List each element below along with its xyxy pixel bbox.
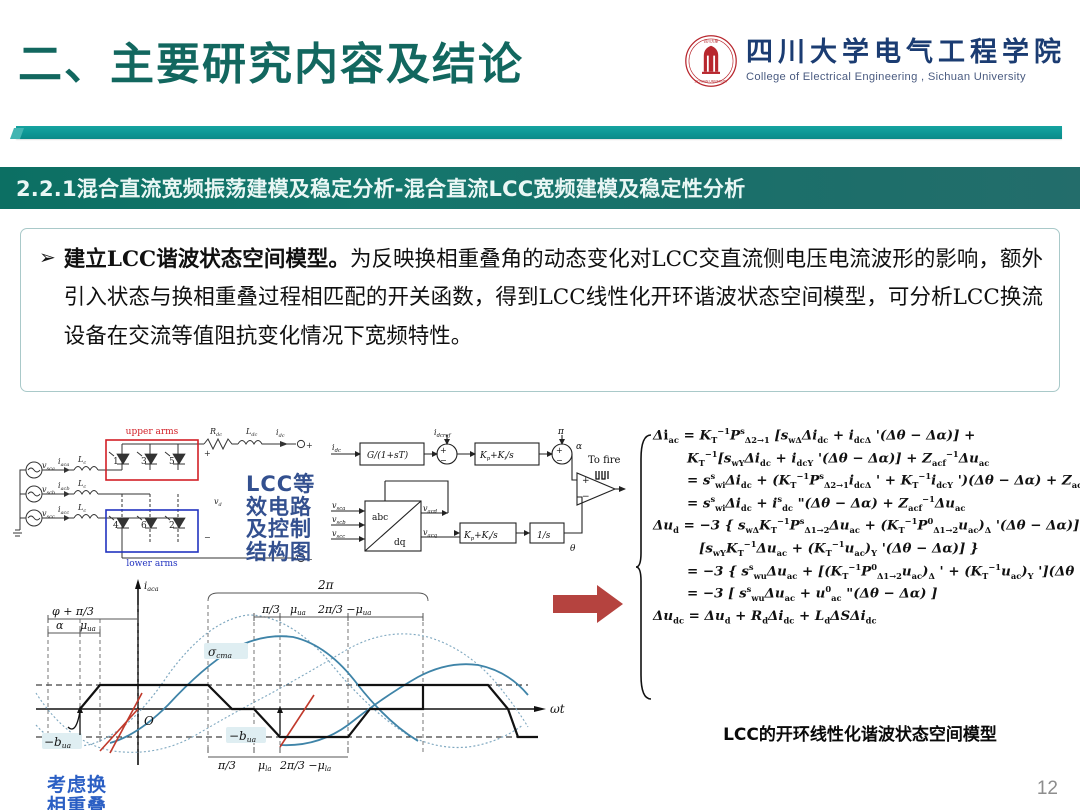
page-title: 二、主要研究内容及结论	[18, 28, 524, 92]
equation-caption: LCC的开环线性化谐波状态空间模型	[653, 720, 1067, 745]
svg-text:π: π	[557, 427, 565, 437]
svg-text:π/3: π/3	[261, 603, 280, 616]
svg-text:Lc: Lc	[77, 455, 86, 466]
svg-text:G/(1+sT): G/(1+sT)	[367, 450, 409, 461]
svg-text:idc: idc	[332, 443, 341, 454]
lcc-current-waveform-diagram: iaca ωt O φ + π/3 α μua 2π π/3 μua 2π/3 …	[18, 575, 630, 775]
svg-text:SICHUAN UNIVERSITY: SICHUAN UNIVERSITY	[695, 80, 728, 84]
svg-text:π/3: π/3	[217, 759, 236, 772]
svg-text:Rdc: Rdc	[209, 427, 222, 438]
svg-text:vd: vd	[214, 497, 222, 508]
svg-text:+: +	[556, 446, 563, 455]
svg-text:−: −	[440, 456, 447, 465]
svg-text:2π/3 −μua: 2π/3 −μua	[317, 603, 371, 617]
circuit-caption: LCC等效电路及控制结构图	[246, 473, 318, 564]
svg-text:φ + π/3: φ + π/3	[52, 605, 94, 618]
upper-arms-label: upper arms	[126, 427, 179, 437]
equation-line-2: KT−1[swYΔidc + idcY '(Δθ − Δα)] + Zacf−1…	[653, 448, 1067, 471]
svg-text:Kp+Ki/s: Kp+Ki/s	[463, 531, 498, 542]
logo-english-name: College of Electrical Engineering , Sich…	[746, 71, 1026, 83]
equation-brace-icon	[635, 433, 655, 701]
equation-line-4: = sswiΔidc + isdc "(Δθ − Δα) + Zacf−1Δua…	[653, 493, 1067, 516]
svg-text:ωt: ωt	[550, 702, 565, 716]
svg-text:μla: μla	[258, 759, 272, 773]
university-logo: 四川大學 SICHUAN UNIVERSITY 四川大学电气工程学院 Colle…	[684, 34, 1066, 88]
svg-text:−: −	[556, 456, 563, 465]
svg-text:θ: θ	[570, 544, 576, 554]
svg-text:3: 3	[141, 457, 147, 467]
equation-line-9: Δudc = Δud + RdΔidc + LdΔSΔidc	[653, 606, 1067, 628]
svg-text:abc: abc	[372, 513, 388, 523]
svg-text:iaca: iaca	[144, 581, 159, 593]
content-paragraph: 建立LCC谐波状态空间模型。为反映换相重叠角的动态变化对LCC交直流侧电压电流波…	[64, 241, 1043, 356]
svg-text:2π/3 −μla: 2π/3 −μla	[279, 759, 331, 773]
equation-line-5: Δud = −3 { swΔKT−1PsΔ1→2Δuac + (KT−1P0Δ1…	[653, 515, 1067, 538]
svg-text:5: 5	[169, 457, 175, 467]
svg-text:iaca: iaca	[58, 457, 69, 468]
page-number: 12	[1037, 778, 1058, 800]
svg-text:−: −	[204, 533, 211, 542]
svg-text:+: +	[582, 476, 590, 486]
waveform-caption: 考虑换相重叠过程的LCC电流变化情况	[40, 775, 114, 810]
equation-panel: Δiac = KT−1PsΔ2→1 [swΔΔidc + idcΔ '(Δθ −…	[635, 425, 1067, 735]
section-header-bar: 2.2.1混合直流宽频振荡建模及稳定分析-混合直流LCC宽频建模及稳定性分析	[0, 167, 1080, 209]
svg-text:vscb: vscb	[332, 515, 346, 526]
lcc-equivalent-circuit-diagram: vsca vscb vscc iaca iacb iacc Lc Lc Lc R…	[18, 418, 328, 588]
svg-text:Lc: Lc	[77, 503, 86, 514]
lcc-control-block-diagram: idc G/(1+sT) idcref Kp+Ki/s π α vsca vsc…	[330, 425, 630, 575]
svg-text:To fire: To fire	[588, 455, 621, 466]
svg-text:vscc: vscc	[332, 529, 345, 540]
svg-text:1/s: 1/s	[537, 531, 551, 541]
equation-line-3: = sswiΔidc + (KT−1PsΔ2→1idcΔ ' + KT−1idc…	[653, 470, 1067, 493]
content-callout-box: ➢ 建立LCC谐波状态空间模型。为反映换相重叠角的动态变化对LCC交直流侧电压电…	[20, 228, 1060, 392]
svg-text:Ldc: Ldc	[245, 427, 258, 438]
svg-text:dq: dq	[394, 538, 406, 548]
section-title: 2.2.1混合直流宽频振荡建模及稳定分析-混合直流LCC宽频建模及稳定性分析	[0, 173, 745, 203]
equation-line-6: [swYKT−1Δuac + (KT−1uac)Y '(Δθ − Δα)] }	[653, 538, 1067, 561]
svg-text:+: +	[440, 446, 447, 455]
equation-line-8: = −3 [ sswuΔuac + u0ac "(Δθ − Δα) ]	[653, 583, 1067, 606]
svg-text:6: 6	[141, 521, 147, 531]
equation-line-7: = −3 { sswuΔuac + [(KT−1P0Δ1→2uac)Δ ' + …	[653, 561, 1067, 584]
slide-root: 二、主要研究内容及结论 四川大學 SICHUAN UNIVERSITY 四川大学…	[0, 0, 1080, 810]
svg-text:4: 4	[113, 521, 119, 531]
svg-text:2π: 2π	[317, 578, 335, 592]
svg-text:+: +	[204, 449, 211, 458]
svg-text:α: α	[576, 442, 582, 452]
svg-text:μua: μua	[290, 603, 306, 617]
equation-lines: Δiac = KT−1PsΔ2→1 [swΔΔidc + idcΔ '(Δθ −…	[653, 425, 1067, 628]
content-bold-lead: 建立LCC谐波状态空间模型。	[64, 247, 350, 272]
right-arrow-icon	[553, 583, 625, 625]
equation-line-1: Δiac = KT−1PsΔ2→1 [swΔΔidc + idcΔ '(Δθ −…	[653, 425, 1067, 448]
svg-text:idcref: idcref	[434, 428, 452, 439]
svg-text:Kp+Ki/s: Kp+Ki/s	[479, 451, 514, 462]
sichuan-university-seal-icon: 四川大學 SICHUAN UNIVERSITY	[684, 34, 738, 88]
svg-text:μua: μua	[80, 619, 96, 633]
svg-text:iacb: iacb	[58, 481, 70, 492]
title-divider	[16, 126, 1062, 139]
svg-text:vsca: vsca	[332, 501, 345, 512]
svg-text:O: O	[144, 714, 154, 728]
lower-arms-label: lower arms	[126, 559, 178, 569]
svg-text:Lc: Lc	[77, 479, 86, 490]
svg-text:iacc: iacc	[58, 505, 69, 516]
lower-arms-box	[106, 510, 198, 552]
svg-text:1: 1	[113, 457, 119, 467]
svg-text:idc: idc	[276, 428, 285, 439]
svg-text:2: 2	[169, 521, 175, 531]
svg-text:四川大學: 四川大學	[704, 39, 719, 44]
logo-chinese-name: 四川大学电气工程学院	[746, 39, 1066, 67]
svg-text:+: +	[306, 441, 313, 450]
svg-text:α: α	[56, 619, 64, 632]
bullet-arrow-icon: ➢	[35, 241, 64, 271]
svg-text:−: −	[582, 492, 590, 502]
